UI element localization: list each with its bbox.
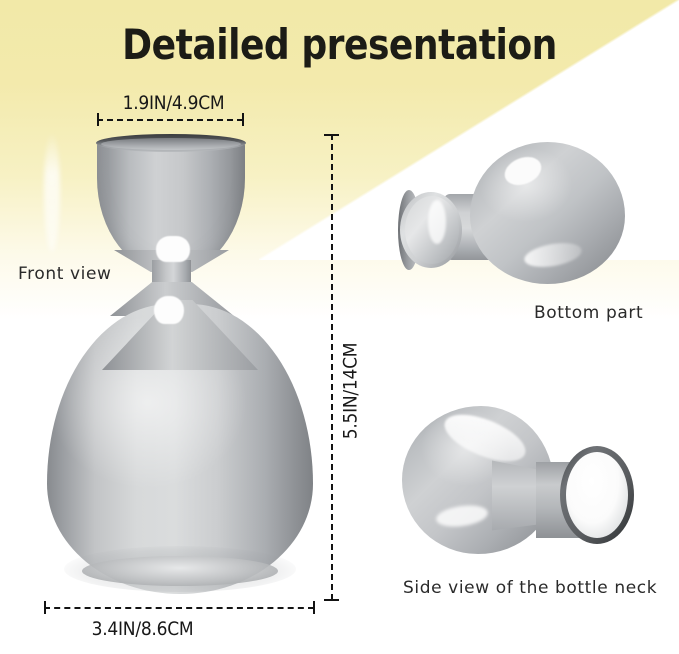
front-view-vase-illustration — [44, 132, 316, 600]
label-bottom-part: Bottom part — [534, 303, 643, 323]
bottom-part-illustration — [392, 136, 632, 296]
page-title: Detailed presentation — [48, 20, 632, 69]
dimension-bottom-line — [44, 607, 314, 609]
dimension-bottom-cap-left — [44, 601, 46, 614]
dimension-top-cap-left — [97, 113, 99, 126]
bottom-part-highlight-cup — [428, 200, 446, 244]
dimension-top-width-label: 1.9IN/4.9CM — [123, 92, 225, 114]
label-front-view: Front view — [18, 264, 112, 284]
vase-highlight-upper — [156, 236, 190, 262]
dimension-bottom-width-label: 3.4IN/8.6CM — [92, 618, 194, 640]
vase-rim-inner — [101, 138, 241, 150]
label-side-view: Side view of the bottle neck — [403, 578, 657, 598]
vase-highlight-body — [44, 132, 60, 252]
dimension-height-cap-top — [324, 134, 339, 136]
dimension-height-line — [331, 134, 333, 600]
side-view-neck-illustration — [396, 398, 641, 568]
side-view-cup-opening — [566, 452, 628, 538]
dimension-bottom-cap-right — [313, 601, 315, 614]
dimension-height-label: 5.5IN/14CM — [340, 343, 362, 440]
dimension-top-cap-right — [242, 113, 244, 126]
product-detail-image: Detailed presentation 1. — [0, 0, 679, 654]
dimension-top-line — [97, 119, 243, 121]
vase-highlight-lower — [154, 296, 184, 324]
dimension-height-cap-bottom — [324, 599, 339, 601]
vase-base — [82, 556, 278, 586]
